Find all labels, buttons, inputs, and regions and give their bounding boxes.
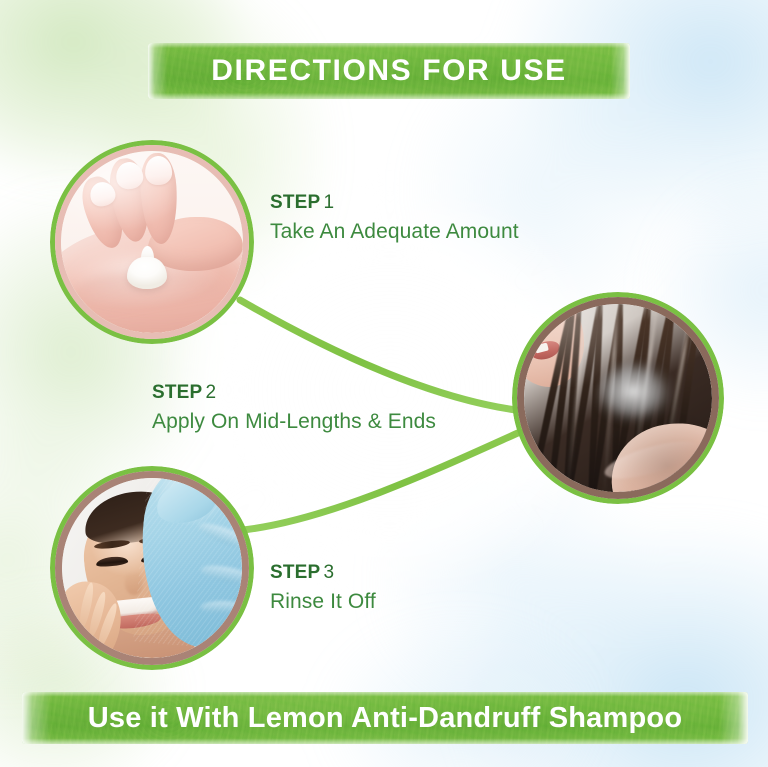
step1-number: 1	[323, 192, 334, 213]
title-text: DIRECTIONS FOR USE	[211, 54, 567, 88]
step3-number: 3	[323, 562, 334, 583]
footer-banner: Use it With Lemon Anti-Dandruff Shampoo	[22, 692, 748, 744]
step1-heading: STEP1	[270, 193, 519, 214]
step2-text-block: STEP2 Apply On Mid-Lengths & Ends	[152, 383, 436, 434]
shading-overlay	[524, 304, 712, 492]
step2-heading-word: STEP	[152, 382, 202, 403]
footer-text: Use it With Lemon Anti-Dandruff Shampoo	[88, 702, 682, 735]
step2-inner-ring	[517, 297, 719, 499]
highlight-overlay	[61, 151, 243, 333]
step1-heading-word: STEP	[270, 192, 320, 213]
wet-hair-application-image	[524, 304, 712, 492]
step1-description: Take An Adequate Amount	[270, 219, 519, 244]
step3-photo-circle	[50, 466, 254, 670]
step1-photo-circle	[50, 140, 254, 344]
step1-inner-ring	[55, 145, 249, 339]
woman-with-towel-image	[62, 478, 242, 658]
step3-inner-ring	[55, 471, 249, 665]
title-banner: DIRECTIONS FOR USE	[148, 43, 630, 99]
step3-description: Rinse It Off	[270, 589, 376, 614]
step1-text-block: STEP1 Take An Adequate Amount	[270, 193, 519, 244]
connector-step3-to-step2	[243, 432, 520, 530]
step3-heading-word: STEP	[270, 562, 320, 583]
directions-for-use-poster: DIRECTIONS FOR USE STEP1 T	[0, 0, 768, 767]
step2-description: Apply On Mid-Lengths & Ends	[152, 409, 436, 434]
hand-with-shampoo-image	[61, 151, 243, 333]
step2-photo-circle	[512, 292, 724, 504]
step2-heading: STEP2	[152, 383, 436, 404]
step3-heading: STEP3	[270, 563, 376, 584]
step2-number: 2	[205, 382, 216, 403]
step3-text-block: STEP3 Rinse It Off	[270, 563, 376, 614]
